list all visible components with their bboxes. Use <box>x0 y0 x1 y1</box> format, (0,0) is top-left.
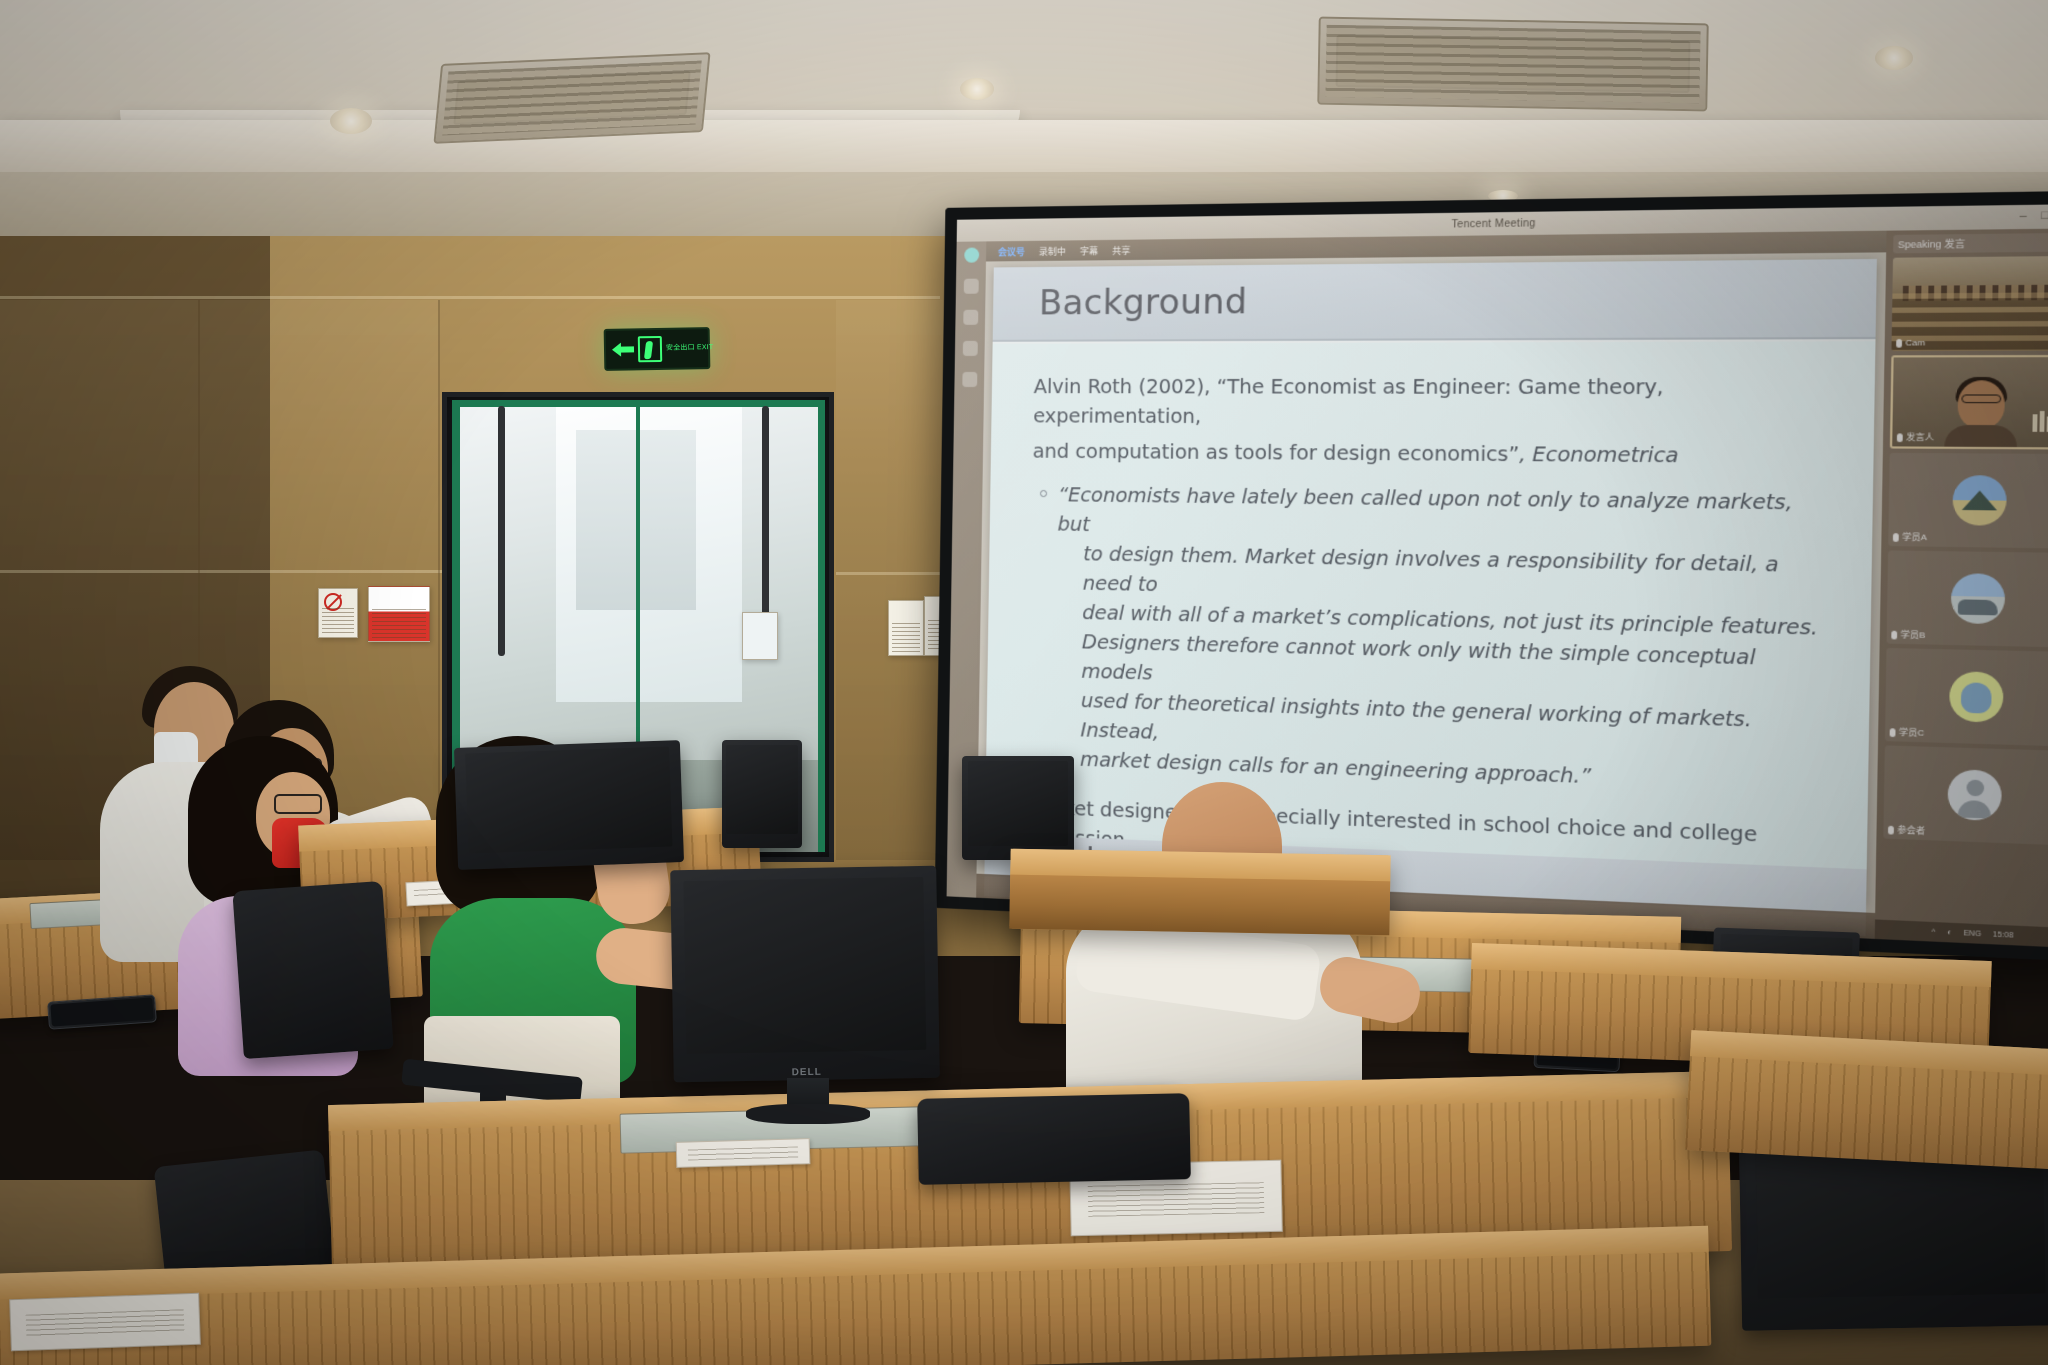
desktop-monitor-dell: DELL <box>670 866 940 1083</box>
avatar <box>1952 475 2007 526</box>
participant-name: 学员A <box>1893 531 1927 543</box>
paper-sheet[interactable] <box>9 1293 201 1352</box>
panel-header: Speaking 发言 <box>1893 233 2048 254</box>
window-controls[interactable]: – □ × <box>2019 209 2048 223</box>
reference-journal: , Econometrica <box>1519 442 1679 467</box>
presenter-torso <box>1944 425 2017 447</box>
bookshelf <box>2032 411 2048 432</box>
presenter-face <box>1957 381 2005 429</box>
wall-panel <box>836 300 946 860</box>
tray-input-icon[interactable]: ENG <box>1963 929 1981 937</box>
desktop-monitor <box>962 756 1074 860</box>
wall-notice-poster <box>368 586 430 642</box>
participant-tile[interactable]: 学员C <box>1885 648 2048 747</box>
wall-notice-poster <box>888 600 924 656</box>
slide-header: Background <box>993 259 1877 342</box>
desk-front-panel <box>1685 1056 2048 1170</box>
microphone-icon <box>1890 728 1896 737</box>
desktop-monitor <box>722 740 802 848</box>
microphone-icon <box>1896 338 1902 347</box>
slide-title: Background <box>1039 281 1248 323</box>
participant-tile[interactable]: Cam <box>1891 256 2048 351</box>
door-glass-notice <box>742 612 778 660</box>
no-smoking-icon <box>324 593 342 611</box>
paper-sheet[interactable] <box>676 1138 811 1168</box>
lectern <box>1009 849 1390 936</box>
wall-seam <box>0 296 940 299</box>
participant-tile[interactable]: 发言人 <box>1890 355 2048 450</box>
speaking-label: Speaking 发言 <box>1898 236 1966 251</box>
chair[interactable] <box>232 881 393 1059</box>
quote-line: “Economists have lately been called upon… <box>1057 480 1827 549</box>
participant-tile[interactable]: 学员B <box>1887 550 2048 647</box>
wall-notice-poster <box>318 588 358 638</box>
reference-author: Alvin Roth (2002), <box>1034 375 1217 399</box>
participant-name: 发言人 <box>1897 431 1934 443</box>
exit-running-person-icon <box>638 336 662 362</box>
ceiling-downlight <box>1875 46 1913 70</box>
monitor-panel: DELL <box>670 866 940 1083</box>
ceiling-air-vent <box>1317 17 1708 112</box>
apps-icon[interactable] <box>962 372 977 387</box>
participant-name: 学员B <box>1891 629 1925 642</box>
lectern-front <box>1009 875 1390 936</box>
participant-name: 参会者 <box>1888 824 1925 837</box>
desk-row-right-lower <box>1685 1030 2048 1170</box>
exit-arrow-icon <box>612 342 634 356</box>
bullet-icon <box>1040 490 1047 497</box>
monitor-screen <box>684 877 926 1055</box>
microphone-icon <box>1897 433 1903 442</box>
participant-tile[interactable]: 参会者 <box>1883 745 2048 845</box>
documents-icon[interactable] <box>962 341 977 356</box>
ceiling-downlight <box>960 78 994 100</box>
ceiling-air-vent <box>433 52 710 144</box>
slide-reference-line-2: and computation as tools for design econ… <box>1032 436 1828 471</box>
participant-tile[interactable]: 学员A <box>1888 453 2048 549</box>
door-mullion <box>818 400 825 852</box>
chair[interactable] <box>917 1093 1191 1185</box>
microphone-icon <box>1891 630 1897 639</box>
microphone-icon <box>1893 533 1899 542</box>
avatar <box>1947 769 2002 821</box>
minimize-icon[interactable]: – <box>2019 209 2027 222</box>
tray-network-icon[interactable]: ◐ <box>1947 929 1952 937</box>
participant-name: 学员C <box>1890 726 1925 739</box>
emergency-exit-sign: 安全出口 EXIT <box>604 327 711 371</box>
desktop-monitor <box>454 740 684 870</box>
participant-name: Cam <box>1896 338 1925 348</box>
maximize-icon[interactable]: □ <box>2041 209 2048 222</box>
door-handle[interactable] <box>498 406 505 656</box>
slide-quote-block: “Economists have lately been called upon… <box>1054 480 1828 800</box>
tray-clock: 15:08 <box>1993 931 2014 940</box>
lecture-hall-scene: 安全出口 EXIT Tencent Meeting – □ × <box>0 0 2048 1365</box>
tray-chevron-icon[interactable]: ^ <box>1931 928 1935 936</box>
avatar <box>1951 573 2006 624</box>
glasses-icon <box>1961 394 2001 403</box>
classroom-video-feed <box>1891 256 2048 351</box>
home-icon[interactable] <box>963 279 978 294</box>
avatar <box>1949 671 2004 723</box>
reference-title-part2: and computation as tools for design econ… <box>1033 439 1520 466</box>
meeting-app-title: Tencent Meeting <box>1451 217 1535 230</box>
slide-reference-line-1: Alvin Roth (2002), “The Economist as Eng… <box>1033 372 1829 435</box>
glasses-icon <box>274 794 322 814</box>
monitor-brand-label: DELL <box>792 1067 822 1079</box>
captions-toggle[interactable]: 字幕 <box>1080 244 1098 257</box>
exit-sign-label: 安全出口 EXIT <box>666 344 713 353</box>
monitor-base <box>746 1104 870 1124</box>
meeting-id-label[interactable]: 会议号 <box>998 244 1025 257</box>
ceiling-downlight <box>330 108 372 134</box>
ceiling-light-band <box>0 120 2048 172</box>
share-status[interactable]: 共享 <box>1112 243 1130 256</box>
participants-panel[interactable]: Speaking 发言 Cam <box>1875 228 2048 948</box>
avatar-icon[interactable] <box>964 248 979 263</box>
recording-indicator[interactable]: 录制中 <box>1039 244 1066 257</box>
microphone-icon <box>1888 825 1894 834</box>
contacts-icon[interactable] <box>963 310 978 325</box>
